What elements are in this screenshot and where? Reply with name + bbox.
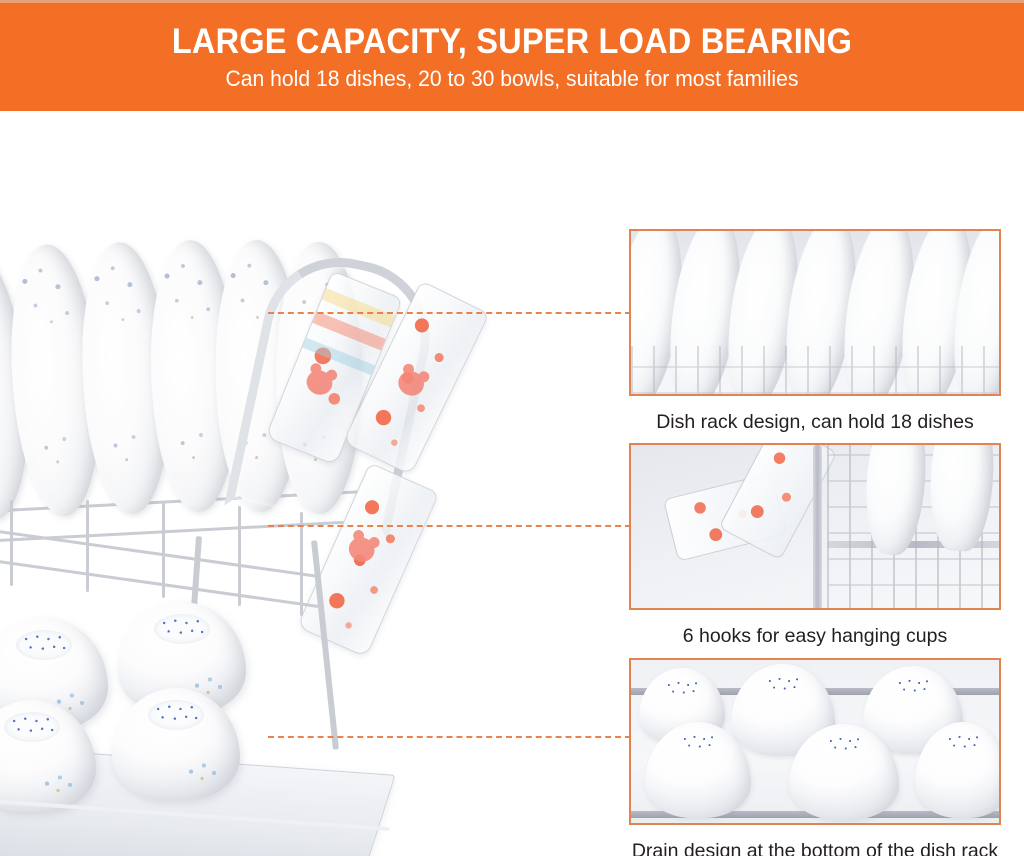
thumbnail-hooks-image: [631, 445, 999, 608]
thumbnail-dishes-image: [631, 231, 999, 394]
main-product-photo: [0, 200, 560, 856]
callout-drain-design: Drain design at the bottom of the dish r…: [629, 658, 1001, 856]
bowl-drain-holes: [4, 712, 60, 742]
thumb-bowl-drain-holes: [676, 732, 720, 754]
callout-caption: Drain design at the bottom of the dish r…: [611, 839, 1019, 856]
callout-image-frame: [629, 658, 1001, 825]
bowl-drain-holes: [154, 614, 210, 644]
banner-title: LARGE CAPACITY, SUPER LOAD BEARING: [36, 22, 988, 62]
bowl-floral-sprig: [36, 770, 82, 804]
connector-line-hooks: [268, 525, 631, 527]
thumb-bowl-drain-holes: [891, 676, 935, 698]
header-banner: LARGE CAPACITY, SUPER LOAD BEARING Can h…: [0, 0, 1024, 111]
thumb-bowl-drain-holes: [941, 732, 985, 754]
thumb-vertical-rod: [813, 445, 822, 610]
rack-wire: [10, 500, 13, 586]
callout-caption: 6 hooks for easy hanging cups: [629, 624, 1001, 648]
bowl-drain-holes: [16, 630, 72, 660]
bowl-drain-holes: [148, 700, 204, 730]
thumb-bowl-drain-holes: [822, 734, 866, 756]
thumbnail-bowls-image: [631, 660, 999, 823]
callout-image-frame: [629, 229, 1001, 396]
connector-line-drain: [268, 736, 631, 738]
banner-subtitle: Can hold 18 dishes, 20 to 30 bowls, suit…: [20, 65, 1003, 93]
rack-wire: [162, 502, 165, 598]
product-infographic-page: LARGE CAPACITY, SUPER LOAD BEARING Can h…: [0, 0, 1024, 856]
rack-wire: [0, 559, 319, 607]
thumb-wire-grid: [631, 346, 1001, 394]
thumb-bowl-drain-holes: [761, 674, 805, 696]
bowl-floral-sprig: [180, 758, 226, 792]
callout-dish-rack-design: Dish rack design, can hold 18 dishes: [629, 229, 1001, 434]
rack-wire: [300, 512, 303, 616]
thumb-bowl-drain-holes: [660, 678, 704, 700]
banner-top-rule: [0, 0, 1024, 3]
callout-image-frame: [629, 443, 1001, 610]
callout-caption: Dish rack design, can hold 18 dishes: [629, 410, 1001, 434]
connector-line-dishes: [268, 312, 631, 314]
rack-wire: [238, 506, 241, 606]
rack-wire: [0, 529, 319, 577]
rack-wire: [86, 500, 89, 592]
callout-hanging-hooks: 6 hooks for easy hanging cups: [629, 443, 1001, 648]
